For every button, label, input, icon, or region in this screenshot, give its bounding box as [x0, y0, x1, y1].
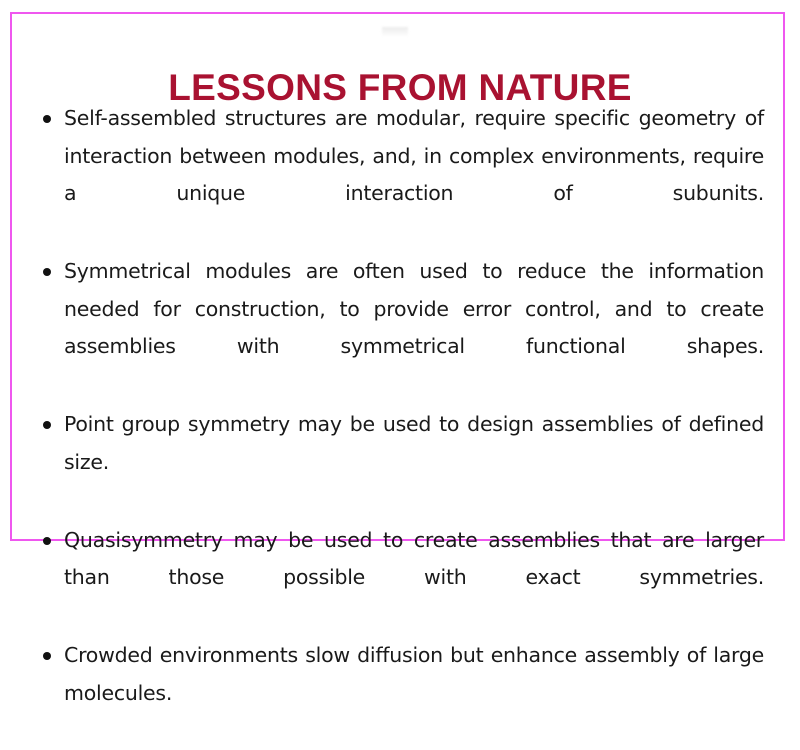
list-item-text: Crowded environments slow diffusion but … — [64, 637, 764, 750]
list-item: Point group symmetry may be used to desi… — [34, 406, 764, 519]
bullet-point-icon — [43, 652, 51, 660]
slide-canvas: LESSONS FROM NATURE Self-assembled struc… — [0, 0, 800, 600]
list-item-text: Point group symmetry may be used to desi… — [64, 406, 764, 519]
list-item: Quasisymmetry may be used to create asse… — [34, 522, 764, 635]
list-item: Symmetrical modules are often used to re… — [34, 253, 764, 403]
bullet-point-icon — [43, 268, 51, 276]
list-item: Crowded environments slow diffusion but … — [34, 637, 764, 750]
bullet-point-icon — [43, 115, 51, 123]
bullet-point-icon — [43, 421, 51, 429]
list-item-text: Symmetrical modules are often used to re… — [64, 253, 764, 403]
list-item: Self-assembled structures are modular, r… — [34, 100, 764, 250]
bullet-point-icon — [43, 537, 51, 545]
list-item-text: Self-assembled structures are modular, r… — [64, 100, 764, 250]
list-item-text: Quasisymmetry may be used to create asse… — [64, 522, 764, 635]
bullet-list: Self-assembled structures are modular, r… — [34, 100, 764, 750]
